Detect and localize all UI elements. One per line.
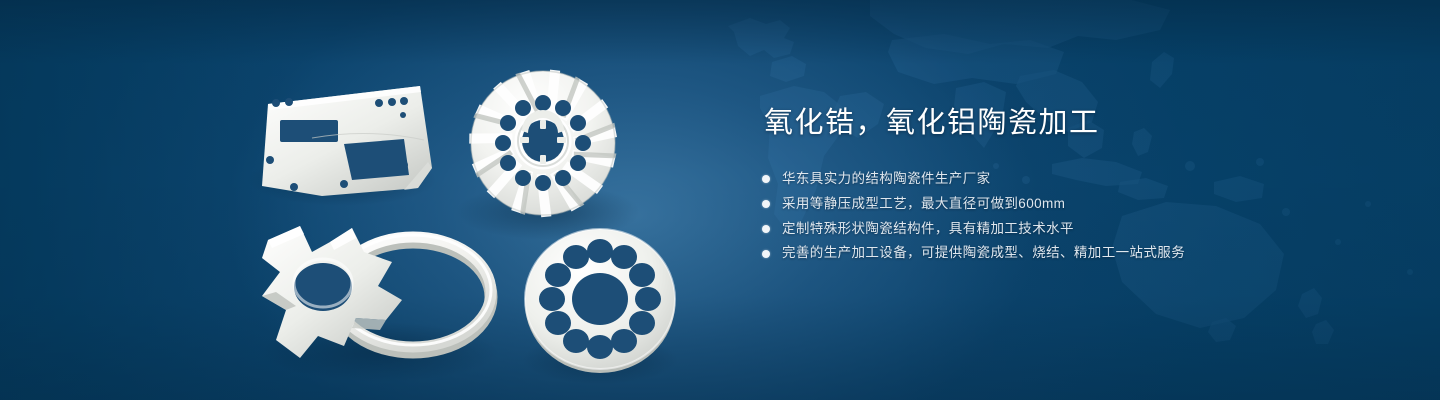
bullet-dot-icon [762,200,770,208]
feature-text: 采用等静压成型工艺，最大直径可做到600mm [782,196,1065,213]
bullet-dot-icon [762,225,770,233]
ceramic-products-image [0,0,720,400]
list-item: 采用等静压成型工艺，最大直径可做到600mm [762,196,1382,213]
banner-copy: 氧化锆，氧化铝陶瓷加工 华东具实力的结构陶瓷件生产厂家 采用等静压成型工艺，最大… [762,106,1382,270]
feature-list: 华东具实力的结构陶瓷件生产厂家 采用等静压成型工艺，最大直径可做到600mm 定… [762,171,1382,263]
list-item: 完善的生产加工设备，可提供陶瓷成型、烧结、精加工一站式服务 [762,245,1382,262]
feature-text: 完善的生产加工设备，可提供陶瓷成型、烧结、精加工一站式服务 [782,245,1185,262]
list-item: 华东具实力的结构陶瓷件生产厂家 [762,171,1382,188]
feature-text: 华东具实力的结构陶瓷件生产厂家 [782,171,991,188]
feature-text: 定制特殊形状陶瓷结构件，具有精加工技术水平 [782,221,1074,238]
hero-banner: 氧化锆，氧化铝陶瓷加工 华东具实力的结构陶瓷件生产厂家 采用等静压成型工艺，最大… [0,0,1440,400]
bullet-dot-icon [762,250,770,258]
bullet-dot-icon [762,175,770,183]
page-title: 氧化锆，氧化铝陶瓷加工 [764,106,1382,141]
list-item: 定制特殊形状陶瓷结构件，具有精加工技术水平 [762,221,1382,238]
